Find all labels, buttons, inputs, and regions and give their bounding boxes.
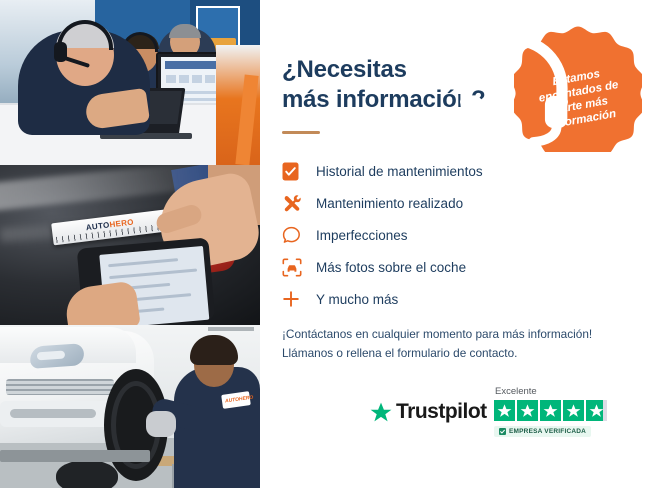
monitor-row xyxy=(166,75,176,83)
star-box xyxy=(517,400,538,421)
trustpilot-star-icon xyxy=(370,402,392,423)
list-item-label: Historial de mantenimientos xyxy=(316,164,483,179)
list-item-label: Mantenimiento realizado xyxy=(316,196,463,211)
list-item: Historial de mantenimientos xyxy=(282,155,612,187)
verified-label: EMPRESA VERIFICADA xyxy=(509,428,586,435)
list-item: Más fotos sobre el coche xyxy=(282,251,612,283)
contact-line-one: ¡Contáctanos en cualquier momento para m… xyxy=(282,325,650,344)
car-lift-arm xyxy=(0,450,150,462)
clipboard-check-icon xyxy=(282,162,316,181)
trustpilot-logo[interactable]: Trustpilot xyxy=(370,400,487,424)
list-item-label: Imperfecciones xyxy=(316,228,408,243)
star-box xyxy=(563,400,584,421)
mechanic-glove xyxy=(146,411,176,437)
contact-copy: ¡Contáctanos en cualquier momento para m… xyxy=(282,325,650,363)
support-badge: Estamos encantados de darte más informac… xyxy=(514,24,642,152)
star-box xyxy=(540,400,561,421)
car-inspection-ruler-photo: AUTOHERO xyxy=(0,165,260,325)
badge-text-wrap: Estamos encantados de darte más informac… xyxy=(504,14,650,162)
rear-wheel xyxy=(56,460,118,488)
trustpilot-widget[interactable]: Trustpilot Excelente xyxy=(370,386,640,448)
trustpilot-name: Trustpilot xyxy=(396,400,487,424)
monitor-row xyxy=(205,75,215,83)
feature-list: Historial de mantenimientos Mantenimient… xyxy=(282,155,612,315)
car-grille xyxy=(6,379,114,395)
rating-label: Excelente xyxy=(495,386,607,397)
badge-text: Estamos encantados de darte más informac… xyxy=(524,62,636,135)
wall-shelf xyxy=(208,327,254,331)
plus-icon xyxy=(282,290,316,308)
list-item: Imperfecciones xyxy=(282,219,612,251)
title-divider xyxy=(282,131,320,134)
mechanic-wheel-photo: AUTOHERO xyxy=(0,325,260,488)
monitor-row xyxy=(192,75,202,83)
list-item: Y mucho más xyxy=(282,283,612,315)
trustpilot-rating: Excelente xyxy=(494,386,607,440)
car-frame-icon xyxy=(282,258,316,277)
contact-line-two: Llámanos o rellena el formulario de cont… xyxy=(282,344,650,363)
list-item-label: Más fotos sobre el coche xyxy=(316,260,466,275)
dent-circle-icon xyxy=(282,226,316,245)
list-item-label: Y mucho más xyxy=(316,292,398,307)
promo-content: ¿Necesitas más información? Estamos enca… xyxy=(260,0,650,488)
verified-check-icon xyxy=(499,428,506,435)
star-box xyxy=(494,400,515,421)
promo-banner: AUTOHERO xyxy=(0,0,650,488)
star-rating xyxy=(494,400,607,421)
star-box xyxy=(586,400,607,421)
car-headlight xyxy=(29,343,84,369)
status-badge: EMPRESA VERIFICADA xyxy=(494,426,591,437)
list-item: Mantenimiento realizado xyxy=(282,187,612,219)
call-center-agents-photo xyxy=(0,0,260,165)
page-title-line-one: ¿Necesitas xyxy=(282,56,407,83)
tools-cross-icon xyxy=(282,193,316,213)
photo-collage: AUTOHERO xyxy=(0,0,260,488)
monitor-row xyxy=(179,75,189,83)
